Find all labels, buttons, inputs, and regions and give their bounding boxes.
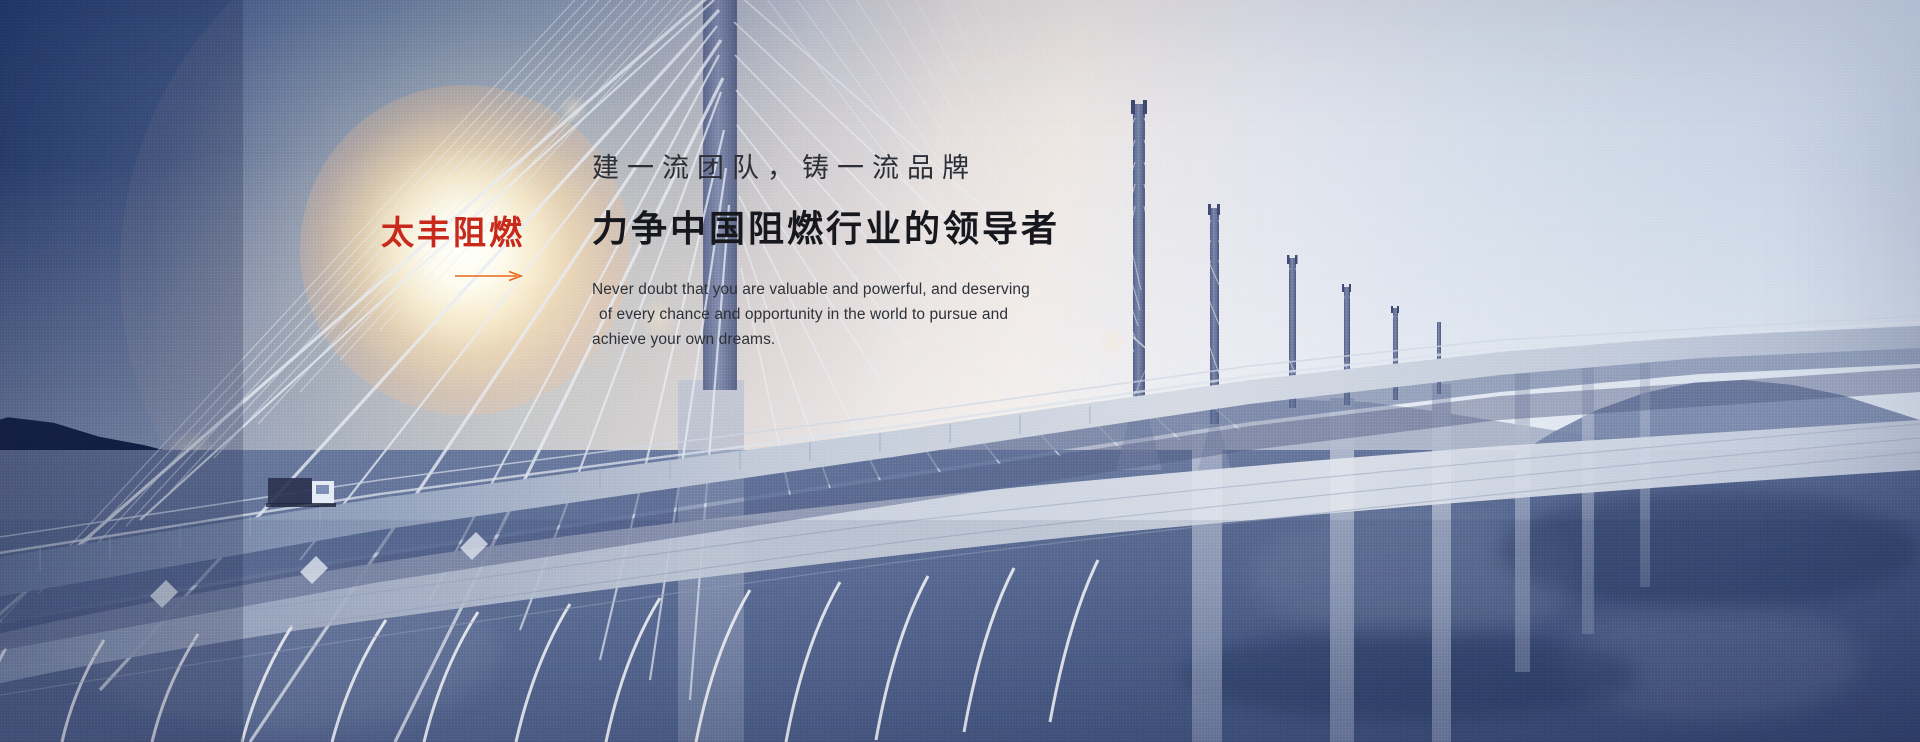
- paragraph-line-1: Never doubt that you are valuable and po…: [592, 277, 1052, 302]
- arrow-right-icon: [455, 271, 523, 281]
- headline-title: 力争中国阻燃行业的领导者: [592, 208, 1132, 251]
- banner-paragraph: Never doubt that you are valuable and po…: [592, 277, 1052, 352]
- headline-subtitle: 建一流团队，铸一流品牌: [592, 152, 1132, 186]
- hero-banner: 太丰阻燃 建一流团队，铸一流品牌 力争中国阻燃行业的领导者 Never doub…: [0, 0, 1920, 742]
- brand-logo-text: 太丰阻燃: [373, 215, 533, 251]
- paragraph-line-3: achieve your own dreams.: [592, 327, 1052, 352]
- brand-logo[interactable]: 太丰阻燃: [373, 215, 533, 281]
- banner-copy: 建一流团队，铸一流品牌 力争中国阻燃行业的领导者 Never doubt tha…: [592, 152, 1132, 352]
- paragraph-line-2: of every chance and opportunity in the w…: [592, 302, 1052, 327]
- banner-content: 太丰阻燃 建一流团队，铸一流品牌 力争中国阻燃行业的领导者 Never doub…: [0, 0, 1920, 742]
